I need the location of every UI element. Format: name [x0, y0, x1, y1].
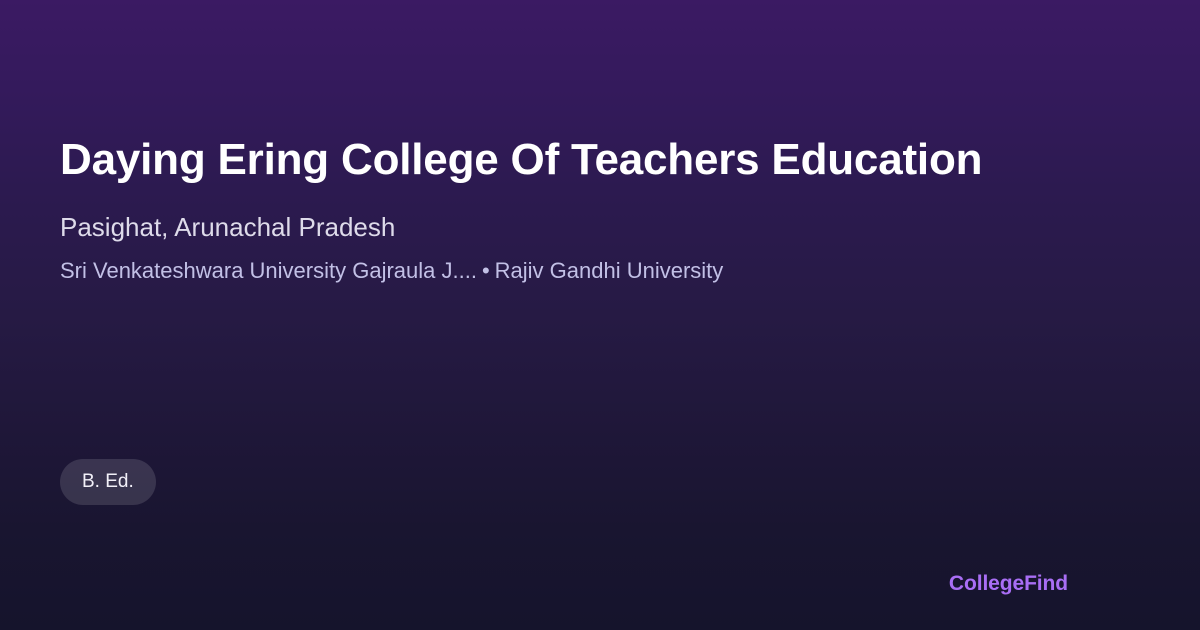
page-title: Daying Ering College Of Teachers Educati… [60, 128, 1040, 192]
affiliation-university: Sri Venkateshwara University Gajraula J.… [60, 258, 477, 283]
meta-separator-bullet: • [477, 258, 495, 283]
og-card: Daying Ering College Of Teachers Educati… [0, 0, 1200, 630]
card-content: Daying Ering College Of Teachers Educati… [60, 128, 1140, 286]
brand-logo[interactable]: CollegeFind [949, 572, 1068, 596]
course-badge-bed[interactable]: B. Ed. [60, 459, 156, 505]
parent-university: Rajiv Gandhi University [495, 258, 724, 283]
affiliation-meta: Sri Venkateshwara University Gajraula J.… [60, 256, 1140, 286]
location-subtitle: Pasighat, Arunachal Pradesh [60, 210, 1140, 244]
course-badge-list: B. Ed. [60, 459, 156, 505]
